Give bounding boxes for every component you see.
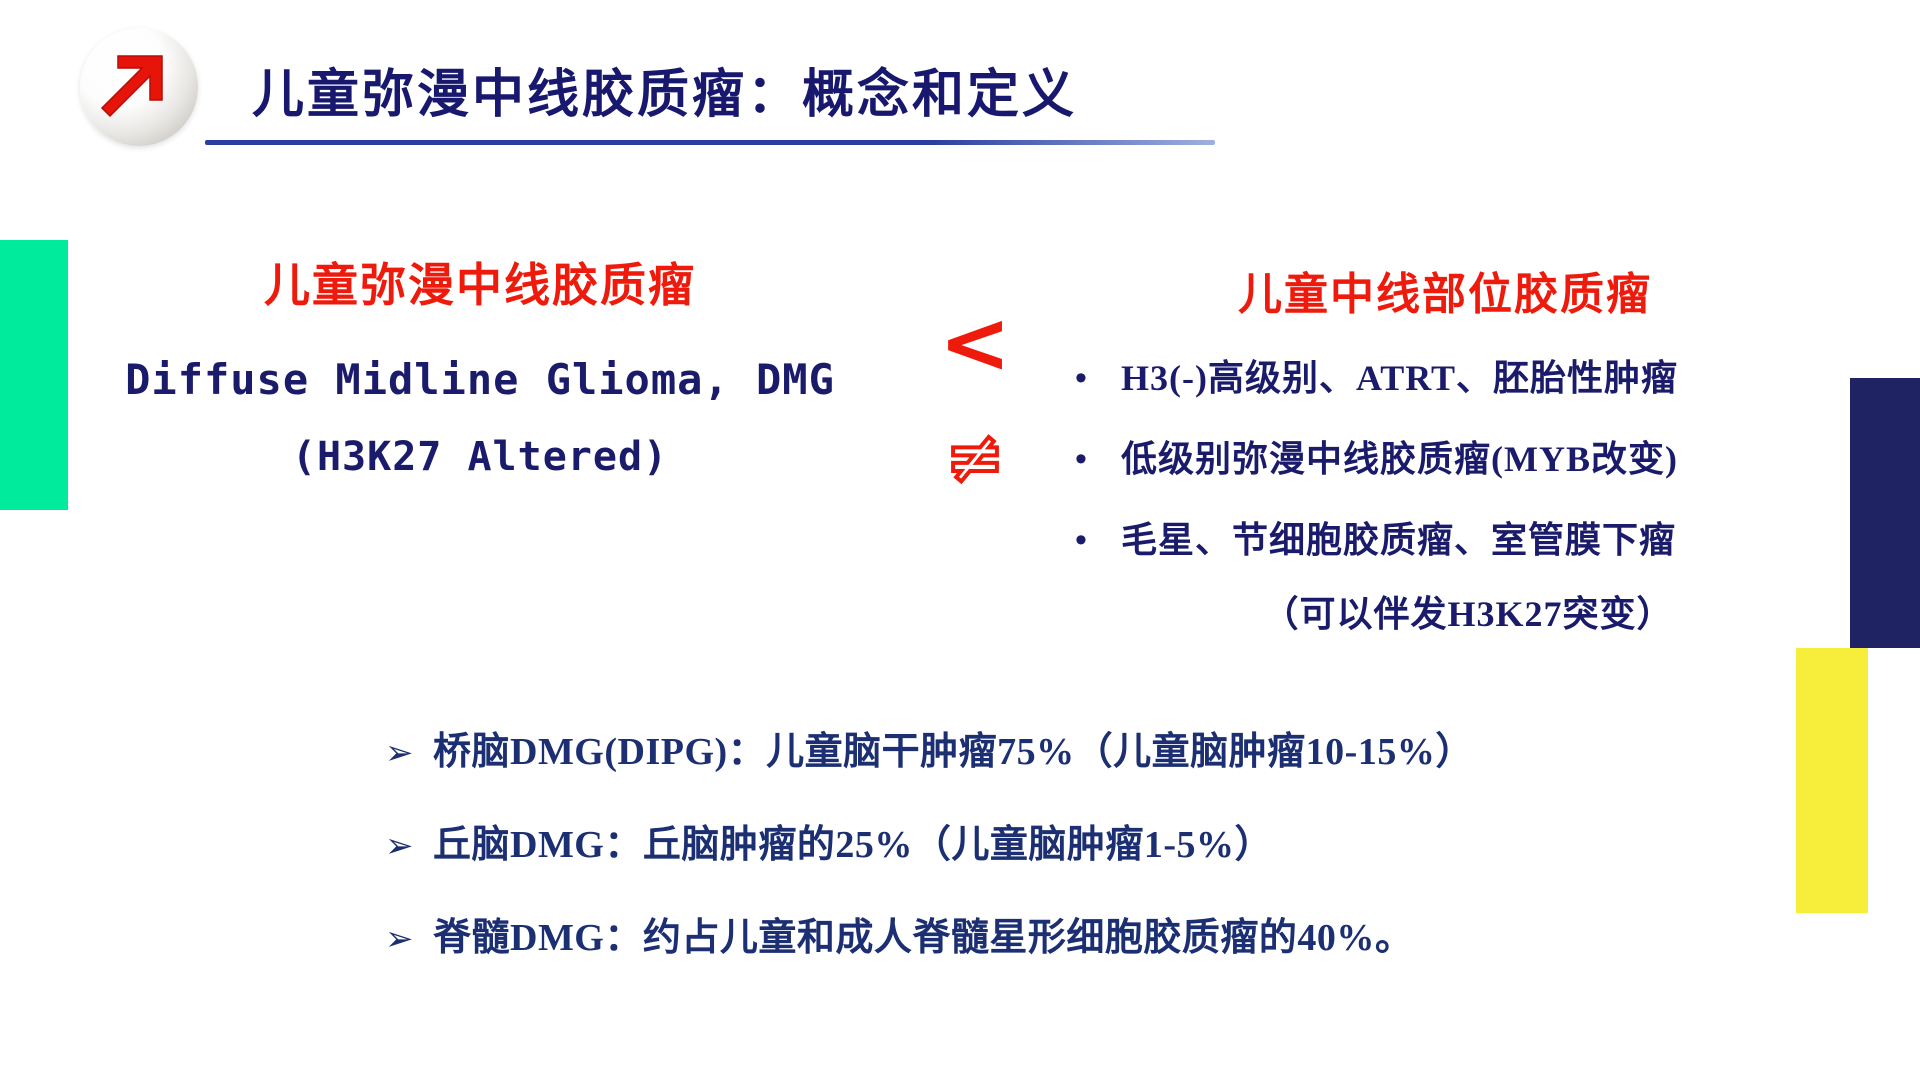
left-panel-qualifier: (H3K27 Altered) [110,434,850,480]
decor-yellow-block [1796,648,1868,913]
right-panel-sub-note: （可以伴发H3K27突变） [1075,585,1815,637]
decor-navy-block [1850,378,1920,648]
page-title: 儿童弥漫中线胶质瘤：概念和定义 [252,52,1077,127]
list-item-label: 桥脑DMG(DIPG)：儿童脑干肿瘤75%（儿童脑肿瘤10-15%） [433,720,1474,775]
list-item: ➢ 丘脑DMG：丘脑肿瘤的25%（儿童脑肿瘤1-5%） [385,813,1785,868]
list-item-label: 脊髓DMG：约占儿童和成人脊髓星形细胞胶质瘤的40%。 [433,906,1413,961]
less-than-symbol: < [890,300,1060,386]
arrow-bullet-icon: ➢ [385,826,433,866]
list-item: • 低级别弥漫中线胶质瘤(MYB改变) [1075,437,1815,482]
slide-header: 儿童弥漫中线胶质瘤：概念和定义 [0,0,1920,190]
slide-canvas: 儿童弥漫中线胶质瘤：概念和定义 儿童弥漫中线胶质瘤 Diffuse Midlin… [0,0,1920,1080]
right-definition-panel: 儿童中线部位胶质瘤 • H3(-)高级别、ATRT、胚胎性肿瘤 • 低级别弥漫中… [1075,258,1815,637]
arrow-bullet-icon: ➢ [385,919,433,959]
right-panel-bullet-list: • H3(-)高级别、ATRT、胚胎性肿瘤 • 低级别弥漫中线胶质瘤(MYB改变… [1075,356,1815,637]
list-item: • H3(-)高级别、ATRT、胚胎性肿瘤 [1075,356,1815,401]
up-right-arrow-icon [88,38,188,138]
bottom-statistics-list: ➢ 桥脑DMG(DIPG)：儿童脑干肿瘤75%（儿童脑肿瘤10-15%） ➢ 丘… [385,720,1785,999]
left-definition-panel: 儿童弥漫中线胶质瘤 Diffuse Midline Glioma, DMG (H… [110,258,850,480]
list-item-label: H3(-)高级别、ATRT、胚胎性肿瘤 [1121,356,1678,401]
arrow-bullet-icon: ➢ [385,733,433,773]
list-item-label: 毛星、节细胞胶质瘤、室管膜下瘤 [1121,518,1676,563]
list-item-label: 低级别弥漫中线胶质瘤(MYB改变) [1121,437,1678,482]
not-equal-symbol: ≠ [890,422,1060,492]
right-panel-heading: 儿童中线部位胶质瘤 [1075,258,1815,322]
decor-green-block [0,240,68,510]
list-item: • 毛星、节细胞胶质瘤、室管膜下瘤 [1075,518,1815,563]
title-underline [205,140,1215,145]
list-item: ➢ 桥脑DMG(DIPG)：儿童脑干肿瘤75%（儿童脑肿瘤10-15%） [385,720,1785,775]
bullet-dot-icon: • [1075,356,1121,400]
left-panel-heading: 儿童弥漫中线胶质瘤 [110,258,850,313]
bullet-dot-icon: • [1075,437,1121,481]
list-item-label: 丘脑DMG：丘脑肿瘤的25%（儿童脑肿瘤1-5%） [433,813,1273,868]
list-item: ➢ 脊髓DMG：约占儿童和成人脊髓星形细胞胶质瘤的40%。 [385,906,1785,961]
comparison-operators: < ≠ [890,300,1060,492]
left-panel-english-name: Diffuse Midline Glioma, DMG [110,355,850,404]
bullet-dot-icon: • [1075,518,1121,562]
